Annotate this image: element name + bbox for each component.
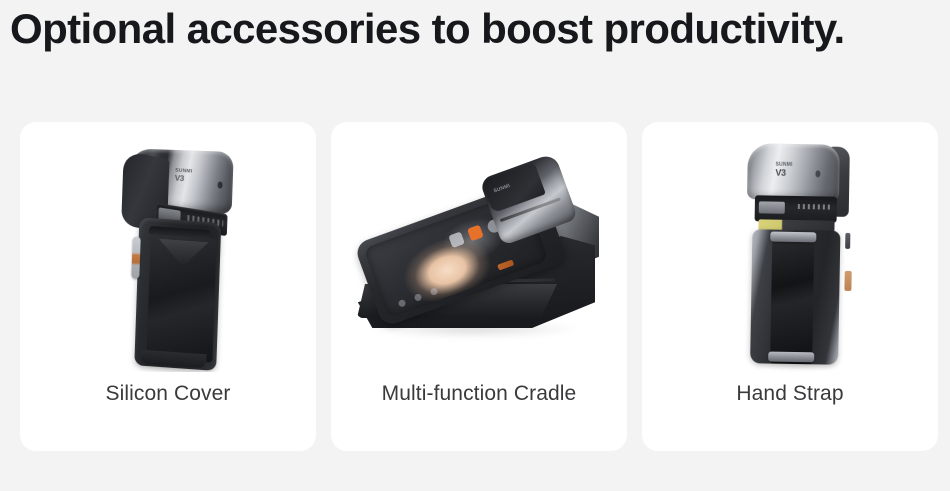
accessory-label-silicon-cover: Silicon Cover (20, 380, 316, 408)
panel-facet (158, 239, 209, 268)
page-title: Optional accessories to boost productivi… (10, 4, 950, 54)
silicon-cover-illustration: SUNMI V3 (112, 148, 238, 370)
nav-dot-icon (397, 298, 406, 307)
product-image-silicon-cover: SUNMI V3 (20, 122, 316, 372)
side-button (845, 233, 850, 249)
app-icon-accent (467, 224, 484, 241)
cradle-illustration: SUNMI (347, 158, 613, 344)
strap-clip-top (770, 232, 816, 243)
accessory-card-multi-function-cradle[interactable]: SUNMI Multi-function Cradle (331, 122, 627, 451)
nav-dot-icon (429, 287, 438, 296)
hand-strap (770, 236, 814, 365)
band-marking (798, 204, 832, 210)
product-image-multi-function-cradle: SUNMI (331, 122, 627, 372)
band-window (759, 201, 785, 213)
strap-clip-bottom (768, 352, 814, 363)
side-accent (844, 271, 851, 291)
accessory-label-multi-function-cradle: Multi-function Cradle (331, 380, 627, 408)
device-body (134, 217, 221, 371)
model-mark: V3 (775, 168, 811, 179)
hand-strap-illustration: SUNMI V3 (738, 143, 854, 367)
model-mark: V3 (174, 173, 205, 184)
accessory-label-hand-strap: Hand Strap (642, 380, 938, 408)
side-button (131, 237, 140, 279)
brand-badge: SUNMI V3 (174, 167, 205, 185)
product-image-hand-strap: SUNMI V3 (642, 122, 938, 372)
brand-badge: SUNMI V3 (775, 162, 811, 181)
silicon-panel (147, 234, 217, 363)
accessory-card-hand-strap[interactable]: SUNMI V3 Hand Strap (642, 122, 938, 451)
accessories-section: Optional accessories to boost productivi… (0, 0, 950, 491)
accessory-card-list: SUNMI V3 (20, 122, 938, 451)
accessory-card-silicon-cover[interactable]: SUNMI V3 (20, 122, 316, 451)
app-icon (448, 231, 465, 248)
nav-dot-icon (413, 292, 422, 301)
